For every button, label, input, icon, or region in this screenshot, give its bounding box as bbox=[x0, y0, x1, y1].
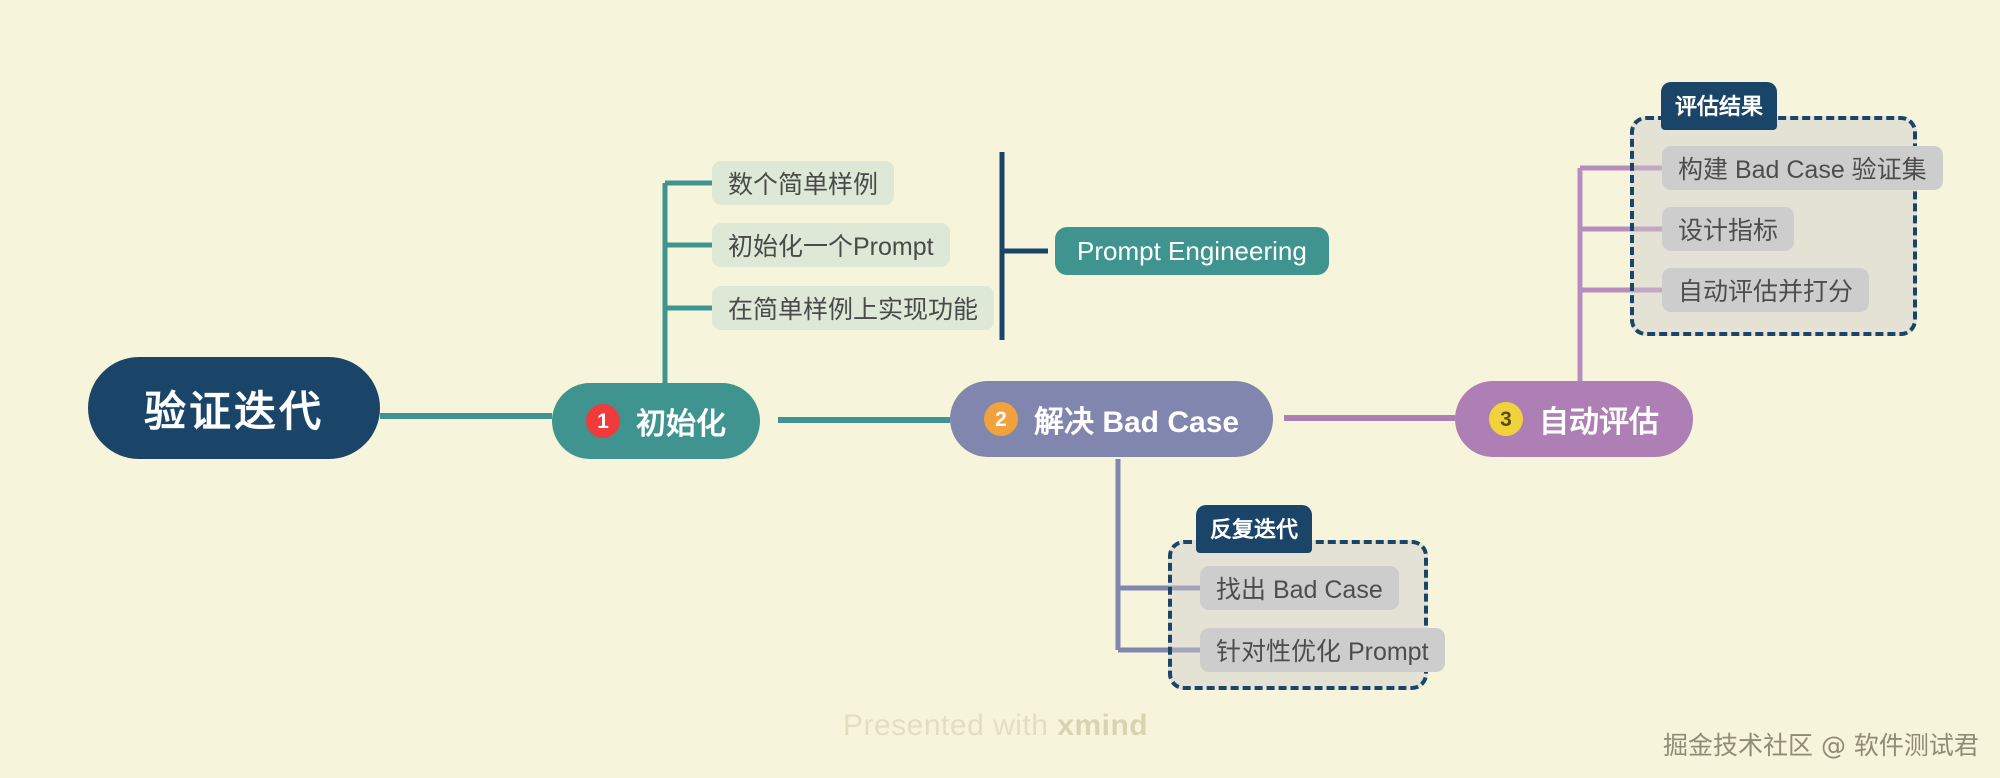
step-number-badge-3: 3 bbox=[1489, 402, 1523, 436]
iter-item-pill-1[interactable]: 找出 Bad Case bbox=[1200, 566, 1399, 610]
main-node-autoeval[interactable]: 3 自动评估 bbox=[1455, 381, 1693, 457]
prompt-engineering-label: Prompt Engineering bbox=[1077, 236, 1307, 267]
group-label-iter-text: 反复迭代 bbox=[1210, 517, 1298, 542]
root-node-label: 验证迭代 bbox=[144, 378, 324, 439]
iter-item-label-1: 找出 Bad Case bbox=[1216, 570, 1383, 606]
main-node-badcase-label: 解决 Bad Case bbox=[1034, 397, 1239, 441]
eval-item-label-2: 设计指标 bbox=[1678, 211, 1778, 247]
init-child-pill-2[interactable]: 初始化一个Prompt bbox=[712, 223, 950, 267]
eval-item-pill-2[interactable]: 设计指标 bbox=[1662, 207, 1794, 251]
xmind-watermark: Presented with xmind bbox=[843, 709, 1148, 743]
juejin-watermark: 掘金技术社区 @ 软件测试君 bbox=[1663, 726, 1979, 762]
root-node[interactable]: 验证迭代 bbox=[88, 357, 380, 459]
mindmap-canvas: 验证迭代 1 初始化 2 解决 Bad Case 3 自动评估 数个简单样例 初… bbox=[0, 0, 2000, 778]
xmind-watermark-prefix: Presented with bbox=[843, 709, 1057, 742]
main-node-autoeval-label: 自动评估 bbox=[1539, 397, 1659, 441]
group-label-eval[interactable]: 评估结果 bbox=[1661, 82, 1777, 130]
init-child-pill-1[interactable]: 数个简单样例 bbox=[712, 161, 894, 205]
eval-item-pill-3[interactable]: 自动评估并打分 bbox=[1662, 268, 1869, 312]
eval-item-label-1: 构建 Bad Case 验证集 bbox=[1678, 150, 1927, 186]
iter-item-label-2: 针对性优化 Prompt bbox=[1216, 632, 1429, 668]
xmind-watermark-brand: xmind bbox=[1057, 709, 1148, 742]
main-node-init-label: 初始化 bbox=[636, 399, 726, 443]
init-child-label-3: 在简单样例上实现功能 bbox=[728, 290, 978, 326]
step-number-badge-1: 1 bbox=[586, 404, 620, 438]
eval-item-label-3: 自动评估并打分 bbox=[1678, 272, 1853, 308]
prompt-engineering-node[interactable]: Prompt Engineering bbox=[1055, 227, 1329, 275]
group-label-iter[interactable]: 反复迭代 bbox=[1196, 505, 1312, 553]
init-child-label-2: 初始化一个Prompt bbox=[728, 227, 934, 263]
step-number-badge-2: 2 bbox=[984, 402, 1018, 436]
group-label-eval-text: 评估结果 bbox=[1675, 94, 1763, 119]
eval-item-pill-1[interactable]: 构建 Bad Case 验证集 bbox=[1662, 146, 1943, 190]
init-child-pill-3[interactable]: 在简单样例上实现功能 bbox=[712, 286, 994, 330]
juejin-watermark-text: 掘金技术社区 @ 软件测试君 bbox=[1663, 731, 1979, 760]
main-node-badcase[interactable]: 2 解决 Bad Case bbox=[950, 381, 1273, 457]
main-node-init[interactable]: 1 初始化 bbox=[552, 383, 760, 459]
init-child-label-1: 数个简单样例 bbox=[728, 165, 878, 201]
iter-item-pill-2[interactable]: 针对性优化 Prompt bbox=[1200, 628, 1445, 672]
